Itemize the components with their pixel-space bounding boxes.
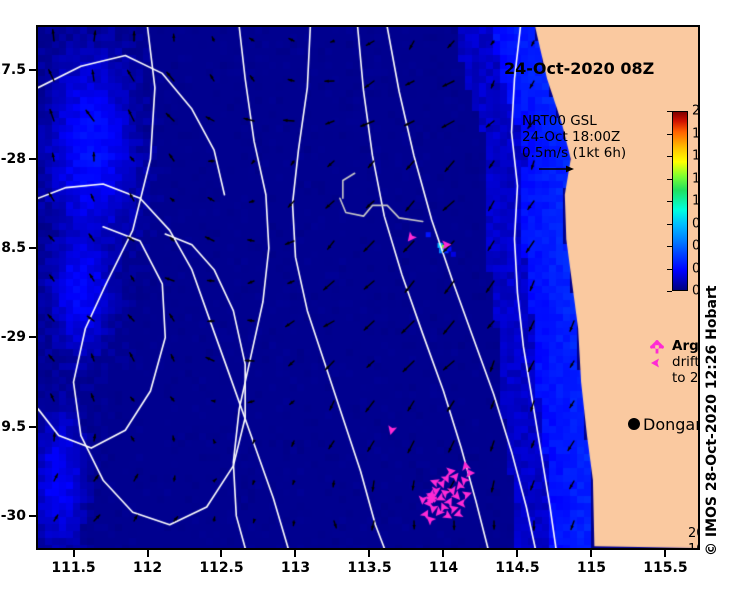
colorbar-tick-label: 2 — [692, 104, 700, 119]
sst-age-field — [38, 27, 698, 548]
colorbar-tick — [667, 111, 672, 112]
x-axis-tick — [664, 550, 666, 557]
colorbar-tick — [667, 224, 672, 225]
y-axis-tick — [29, 336, 36, 338]
y-axis-label: -29 — [1, 329, 26, 345]
y-axis-tick — [29, 158, 36, 160]
x-axis-label: 115 — [577, 560, 606, 576]
colorbar-tick-label: 0.25 — [692, 261, 700, 276]
map-title: 24-Oct-2020 08Z — [504, 59, 654, 78]
y-axis-tick — [29, 69, 36, 71]
nrt-annotation: NRT00 GSL 24-Oct 18:00Z 0.5m/s (1kt 6h) — [522, 113, 626, 161]
drifter-arrow-marker-icon — [650, 356, 664, 370]
x-axis-label: 112.5 — [199, 560, 243, 576]
colorbar-tick — [667, 179, 672, 180]
city-dot-marker-icon — [628, 418, 640, 430]
x-axis-label: 115.5 — [643, 560, 687, 576]
colorbar-tick — [667, 269, 672, 270]
depth-scale-200m: 200m — [688, 526, 700, 542]
colorbar-tick — [667, 201, 672, 202]
y-axis-tick — [29, 426, 36, 428]
x-axis-label: 111.5 — [51, 560, 95, 576]
nrt-line-3: 0.5m/s (1kt 6h) — [522, 145, 626, 161]
x-axis-tick — [147, 550, 149, 557]
colorbar-tick-label: 1.25 — [692, 171, 700, 186]
x-axis-label: 112 — [133, 560, 162, 576]
x-axis-label: 113 — [281, 560, 310, 576]
city-label: Dongara — [643, 415, 700, 434]
colorbar-tick — [667, 134, 672, 135]
depth-scale-1000m: 1000m — [688, 542, 700, 550]
legend-label-argo: Argo — [672, 339, 700, 355]
colorbar-tick — [667, 246, 672, 247]
x-axis-tick — [220, 550, 222, 557]
x-axis-tick — [442, 550, 444, 557]
y-axis-tick — [29, 247, 36, 249]
argo-star-marker-icon — [650, 340, 664, 354]
y-axis-label: -27.5 — [0, 62, 26, 78]
colorbar-tick-label: 1.75 — [692, 126, 700, 141]
colorbar-tick-label: 1 — [692, 194, 700, 209]
colorbar-tick-label: 0.5 — [692, 239, 700, 254]
colorbar-tick — [667, 156, 672, 157]
x-axis-label: 114 — [429, 560, 458, 576]
y-axis-tick — [29, 515, 36, 517]
colorbar-tick-label: 1.5 — [692, 149, 700, 164]
x-axis-tick — [368, 550, 370, 557]
depth-scale-labels: 200m 1000m — [688, 526, 700, 550]
map-plot-area[interactable]: 24-Oct-2020 08Z NRT00 GSL 24-Oct 18:00Z … — [36, 25, 700, 550]
nrt-line-2: 24-Oct 18:00Z — [522, 129, 626, 145]
colorbar-tick-label: 0.75 — [692, 216, 700, 231]
x-axis-tick — [294, 550, 296, 557]
legend-label-drifters-2: to 25/10 12Z — [672, 371, 700, 387]
x-axis-tick — [590, 550, 592, 557]
colorbar-tick — [667, 291, 672, 292]
y-axis-label: -28 — [1, 151, 26, 167]
colorbar-tick-label: 0 — [692, 284, 700, 299]
credit-text: © IMOS 28-Oct-2020 12:26 Hobart — [704, 285, 720, 556]
x-axis-label: 113.5 — [347, 560, 391, 576]
nrt-line-1: NRT00 GSL — [522, 113, 626, 129]
y-axis-label: -28.5 — [0, 240, 26, 256]
colorbar-gradient — [672, 111, 688, 291]
x-axis-tick — [516, 550, 518, 557]
x-axis-tick — [73, 550, 75, 557]
x-axis-label: 114.5 — [495, 560, 539, 576]
velocity-scale-arrow-icon — [538, 163, 574, 175]
legend-label-drifters-1: drifters@6h — [672, 355, 700, 371]
y-axis-label: -30 — [1, 508, 26, 524]
y-axis-label: -29.5 — [0, 419, 26, 435]
